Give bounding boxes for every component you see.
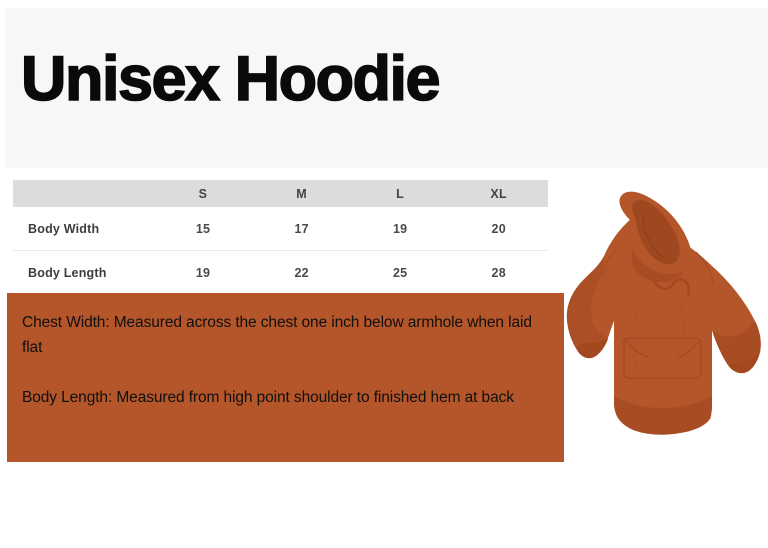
column-header-l: L (351, 180, 450, 207)
column-header-xl: XL (449, 180, 548, 207)
size-chart-page: Unisex Hoodie S M L XL Body Width 15 (0, 0, 768, 548)
column-header-blank (13, 180, 154, 207)
table-row: Body Width 15 17 19 20 (13, 207, 548, 251)
page-title: Unisex Hoodie (21, 44, 439, 114)
cell-body-length-s: 19 (154, 251, 253, 295)
cell-body-width-xl: 20 (449, 207, 548, 251)
measurement-notes-box: Chest Width: Measured across the chest o… (7, 293, 564, 462)
cell-body-length-m: 22 (252, 251, 351, 295)
hoodie-product-image (560, 190, 768, 465)
column-header-s: S (154, 180, 253, 207)
cell-body-length-xl: 28 (449, 251, 548, 295)
table-header: S M L XL (13, 180, 548, 207)
note-body-length: Body Length: Measured from high point sh… (22, 385, 537, 410)
size-chart-table: S M L XL Body Width 15 17 19 20 Body Len… (13, 180, 548, 294)
hoodie-illustration (560, 190, 768, 465)
column-header-m: M (252, 180, 351, 207)
row-label-body-width: Body Width (13, 207, 154, 251)
row-label-body-length: Body Length (13, 251, 154, 295)
cell-body-width-l: 19 (351, 207, 450, 251)
table-row: Body Length 19 22 25 28 (13, 251, 548, 295)
hoodie-body-group (567, 192, 761, 435)
title-band: Unisex Hoodie (5, 8, 768, 168)
table-body: Body Width 15 17 19 20 Body Length 19 22… (13, 207, 548, 294)
table-header-row: S M L XL (13, 180, 548, 207)
cell-body-width-m: 17 (252, 207, 351, 251)
measurements-table: S M L XL Body Width 15 17 19 20 Body Len… (13, 180, 548, 294)
note-chest-width: Chest Width: Measured across the chest o… (22, 310, 537, 360)
cell-body-width-s: 15 (154, 207, 253, 251)
cell-body-length-l: 25 (351, 251, 450, 295)
